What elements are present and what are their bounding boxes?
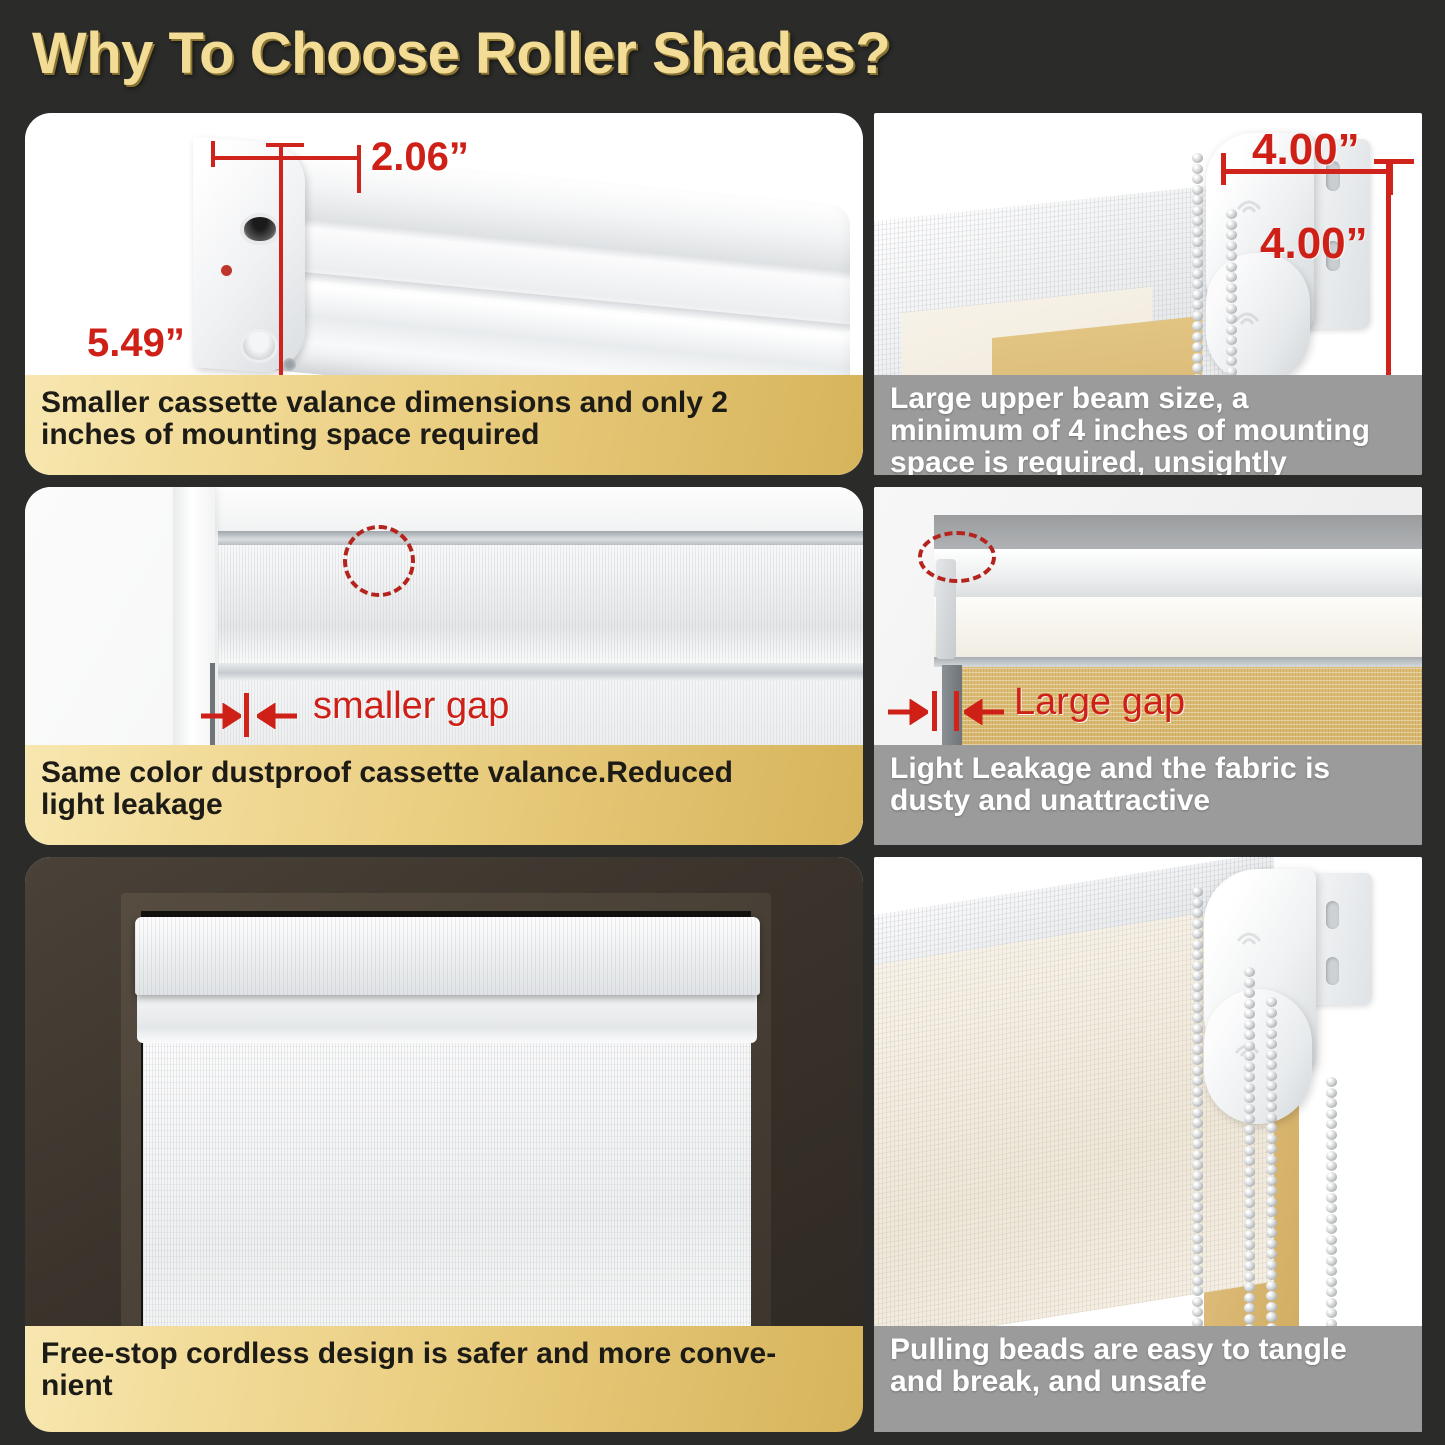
- signal-emboss-icon: [1234, 923, 1264, 949]
- window-frame-top: [173, 487, 863, 535]
- height-dim-tick-top: [1374, 159, 1414, 164]
- mounting-slot-icon: [1326, 901, 1339, 929]
- gap-tick-left: [932, 691, 937, 731]
- panel-light-leakage: Large gap Light Leakage and the fabric i…: [874, 487, 1422, 845]
- width-dim-tick-left: [211, 141, 215, 167]
- measure-origin-dot-icon: [221, 265, 232, 276]
- gap-arrow-left-icon: [888, 699, 928, 725]
- caption-line-2: dusty and unattractive: [890, 785, 1408, 817]
- width-dim-label: 4.00”: [1252, 125, 1360, 175]
- caption-line-2: and break, and unsafe: [890, 1366, 1408, 1398]
- bead-chain-4: [1326, 1077, 1337, 1327]
- caption-line-2: nient: [41, 1370, 849, 1402]
- panel-smaller-cassette: 2.06” 5.49” Smaller cassette valance dim…: [25, 113, 863, 475]
- bead-chain-3: [1266, 997, 1277, 1327]
- caption-line-1: Light Leakage and the fabric is: [890, 753, 1408, 785]
- caption-line-2: minimum of 4 inches of mounting: [890, 415, 1408, 447]
- bracket-lower-knob-icon: [240, 329, 278, 363]
- panel-dustproof-valance: smaller gap Same color dustproof cassett…: [25, 487, 863, 845]
- panel-6-caption: Pulling beads are easy to tangle and bre…: [874, 1326, 1422, 1432]
- caption-line-3: space is required, unsightly: [890, 447, 1408, 475]
- beam-rail: [934, 657, 1422, 667]
- beam-face: [934, 597, 1422, 659]
- panel-4-caption: Light Leakage and the fabric is dusty an…: [874, 745, 1422, 845]
- height-dim-label: 4.00”: [1260, 219, 1368, 269]
- caption-line-1: Same color dustproof cassette valance.Re…: [41, 757, 849, 789]
- gap-tick-right: [954, 691, 959, 731]
- highlight-dashed-circle: [343, 525, 415, 597]
- caption-line-1: Free-stop cordless design is safer and m…: [41, 1338, 849, 1370]
- bead-chain-1: [1192, 887, 1203, 1327]
- width-dim-label: 2.06”: [371, 135, 469, 180]
- mounting-slot-icon: [1326, 957, 1339, 985]
- gap-tick: [244, 693, 249, 737]
- gap-arrow-right-icon: [964, 699, 1004, 725]
- caption-line-1: Pulling beads are easy to tangle: [890, 1334, 1408, 1366]
- panel-pulling-beads: Pulling beads are easy to tangle and bre…: [874, 857, 1422, 1432]
- shade-fabric: [143, 1041, 751, 1341]
- height-dim-tick-top: [266, 143, 304, 147]
- caption-line-1: Smaller cassette valance dimensions and …: [41, 387, 849, 419]
- width-dim-line: [211, 156, 361, 160]
- caption-line-2: inches of mounting space required: [41, 419, 849, 451]
- valance-lower-lip: [137, 991, 757, 1043]
- height-dim-line: [1386, 159, 1391, 409]
- caption-line-1: Large upper beam size, a: [890, 383, 1408, 415]
- bead-chain-2: [1244, 967, 1255, 1327]
- shade-mid-rail: [218, 663, 863, 681]
- screw-icon: [283, 358, 296, 371]
- panel-3-caption: Same color dustproof cassette valance.Re…: [25, 745, 863, 845]
- panel-cordless-design: Free-stop cordless design is safer and m…: [25, 857, 863, 1432]
- gap-arrow-left-icon: [201, 703, 241, 729]
- gap-arrow-right-icon: [257, 703, 297, 729]
- caption-line-2: light leakage: [41, 789, 849, 821]
- valance-headrail: [218, 531, 863, 545]
- shade-upper-fabric: [218, 545, 863, 663]
- width-dim-tick-right: [357, 145, 361, 193]
- gap-callout-label: smaller gap: [313, 685, 509, 728]
- height-dim-label: 5.49”: [87, 321, 185, 366]
- page-title: Why To Choose Roller Shades?: [32, 20, 1132, 92]
- width-dim-tick-left: [1221, 153, 1226, 185]
- panel-2-caption: Large upper beam size, a minimum of 4 in…: [874, 375, 1422, 475]
- upper-beam: [934, 549, 1422, 601]
- gap-callout-label: Large gap: [1014, 681, 1185, 724]
- panel-large-beam: 4.00” 4.00” Large upper beam size, a min…: [874, 113, 1422, 475]
- highlight-dashed-circle: [918, 531, 996, 583]
- panel-1-caption: Smaller cassette valance dimensions and …: [25, 375, 863, 475]
- bracket-knob-icon: [240, 213, 280, 245]
- panel-5-caption: Free-stop cordless design is safer and m…: [25, 1326, 863, 1432]
- cassette-valance: [135, 917, 760, 995]
- signal-emboss-icon: [1234, 191, 1264, 217]
